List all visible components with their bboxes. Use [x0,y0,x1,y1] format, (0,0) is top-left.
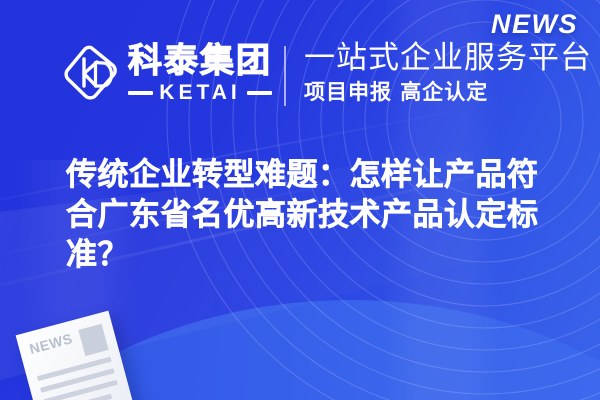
logo-company-name-en: KETAI [159,82,240,104]
logo-company-name-cn: 科泰集团 [128,42,272,80]
newspaper-masthead: NEWS [28,330,75,357]
ketai-diamond-monogram-icon [62,42,120,104]
logo-company-name-en-row: KETAI [128,82,272,104]
banner-header: 科泰集团 KETAI 一站式企业服务平台 项目申报 高企认定 NEWS [0,0,600,140]
news-badge-label: NEWS [491,9,578,40]
company-logo[interactable]: 科泰集团 KETAI [62,42,272,104]
logo-dash-right [247,91,272,95]
tagline-secondary: 项目申报 高企认定 [304,79,592,105]
news-banner: 科泰集团 KETAI 一站式企业服务平台 项目申报 高企认定 NEWS 传统企业… [0,0,600,400]
logo-dash-left [128,91,153,95]
newspaper-thumbnail [78,324,108,356]
tagline-primary: 一站式企业服务平台 [304,40,592,76]
header-tagline: 一站式企业服务平台 项目申报 高企认定 [304,40,592,105]
article-headline: 传统企业转型难题：怎样让产品符合广东省名优高新技术产品认定标准？ [66,155,558,275]
header-divider [284,46,286,106]
